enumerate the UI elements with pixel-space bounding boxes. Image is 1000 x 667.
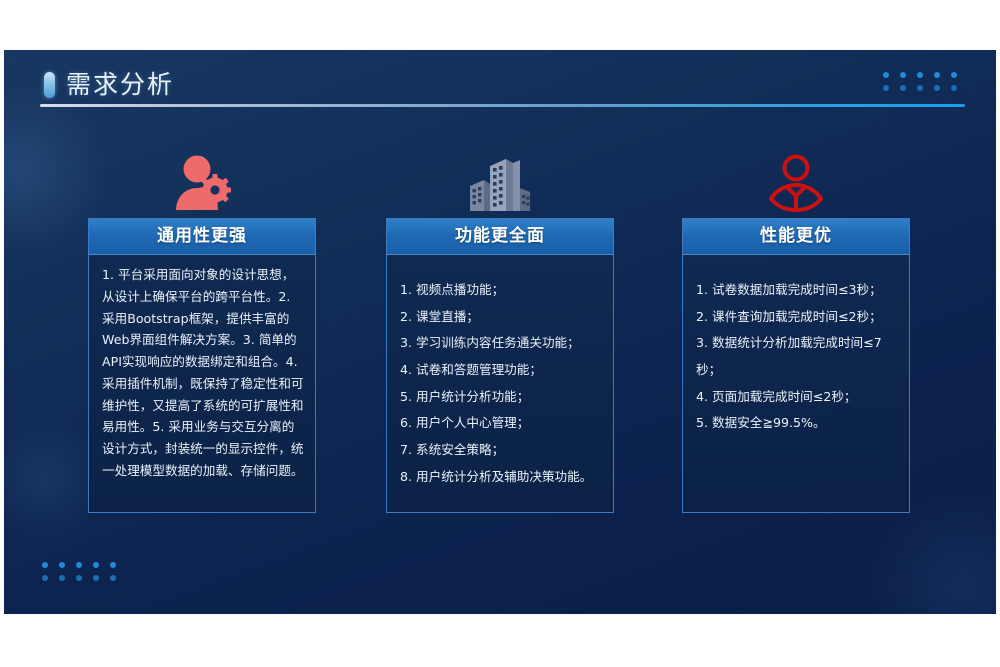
card-generality[interactable]: 通用性更强 1. 平台采用面向对象的设计思想，从设计上确保平台的跨平台性。2. … bbox=[88, 218, 316, 513]
buildings-icon bbox=[386, 146, 614, 212]
slide-canvas: 需求分析 bbox=[4, 50, 996, 614]
card-item: 4. 页面加载完成时间≤2秒； bbox=[696, 384, 898, 411]
card-title: 通用性更强 bbox=[89, 219, 315, 255]
dot-grid-icon-bottom-left bbox=[42, 562, 127, 588]
card-item: 1. 试卷数据加载完成时间≤3秒； bbox=[696, 277, 898, 304]
card-item: 5. 用户统计分析功能； bbox=[400, 384, 602, 411]
card-item: 3. 学习训练内容任务通关功能； bbox=[400, 330, 602, 357]
card-item: 7. 系统安全策略； bbox=[400, 437, 602, 464]
card-item: 2. 课堂直播； bbox=[400, 304, 602, 331]
card-item: 4. 试卷和答题管理功能； bbox=[400, 357, 602, 384]
card-item: 2. 课件查询加载完成时间≤2秒； bbox=[696, 304, 898, 331]
card-functionality[interactable]: 功能更全面 1. 视频点播功能； 2. 课堂直播； 3. 学习训练内容任务通关功… bbox=[386, 218, 614, 513]
divider-line bbox=[40, 104, 965, 107]
card-item: 8. 用户统计分析及辅助决策功能。 bbox=[400, 464, 602, 491]
card-performance[interactable]: 性能更优 1. 试卷数据加载完成时间≤3秒； 2. 课件查询加载完成时间≤2秒；… bbox=[682, 218, 910, 513]
businessman-icon bbox=[682, 146, 910, 212]
card-text: 1. 平台采用面向对象的设计思想，从设计上确保平台的跨平台性。2. 采用Boot… bbox=[102, 264, 304, 482]
card-item: 3. 数据统计分析加载完成时间≤7秒； bbox=[696, 330, 898, 383]
card-item: 1. 视频点播功能； bbox=[400, 277, 602, 304]
slide-header: 需求分析 bbox=[4, 50, 996, 118]
pill-bullet-icon bbox=[44, 72, 55, 98]
card-body: 1. 平台采用面向对象的设计思想，从设计上确保平台的跨平台性。2. 采用Boot… bbox=[89, 255, 315, 490]
dot-grid-icon-top-right bbox=[883, 72, 968, 98]
card-body: 1. 试卷数据加载完成时间≤3秒； 2. 课件查询加载完成时间≤2秒； 3. 数… bbox=[683, 255, 909, 445]
card-body: 1. 视频点播功能； 2. 课堂直播； 3. 学习训练内容任务通关功能； 4. … bbox=[387, 255, 613, 499]
card-item: 6. 用户个人中心管理； bbox=[400, 410, 602, 437]
card-title: 性能更优 bbox=[683, 219, 909, 255]
user-gear-icon bbox=[88, 146, 316, 212]
card-title: 功能更全面 bbox=[387, 219, 613, 255]
page-title: 需求分析 bbox=[66, 65, 174, 101]
card-item: 5. 数据安全≧99.5%。 bbox=[696, 410, 898, 437]
